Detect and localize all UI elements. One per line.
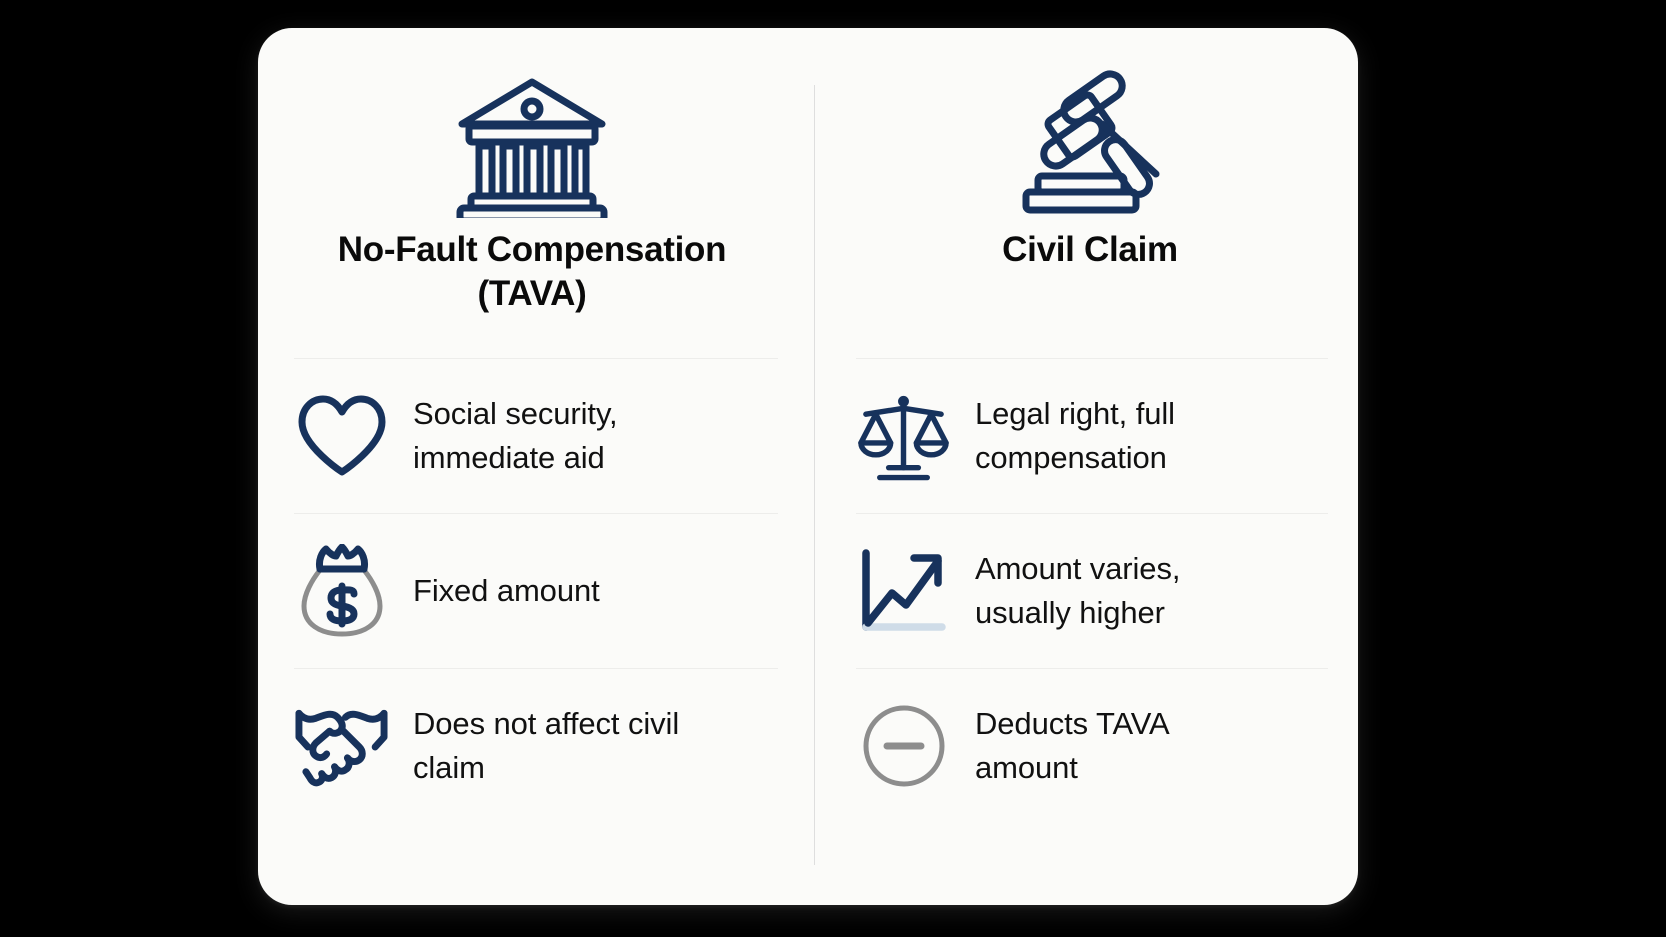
list-item-label: Social security, immediate aid xyxy=(413,392,743,481)
list-item: Legal right, full compensation xyxy=(856,358,1328,513)
feature-list-right: Legal right, full compensation Amount va… xyxy=(852,358,1328,823)
handshake-icon xyxy=(294,699,389,794)
feature-list-left: Social security, immediate aid xyxy=(286,358,778,823)
list-item-label: Legal right, full compensation xyxy=(975,392,1275,481)
list-item: Social security, immediate aid xyxy=(294,358,778,513)
bank-classical-building-icon xyxy=(452,68,612,218)
minus-circle-icon xyxy=(856,699,951,794)
column-title-line2: (TAVA) xyxy=(477,274,586,313)
list-item: Does not affect civil claim xyxy=(294,668,778,823)
list-item-label: Deducts TAVA amount xyxy=(975,702,1275,791)
scales-of-justice-icon xyxy=(856,389,951,484)
page-title-civil-claim: Civil Claim xyxy=(1002,228,1178,272)
money-bag-icon xyxy=(294,544,389,639)
heart-icon xyxy=(294,389,389,484)
column-header-right: Civil Claim xyxy=(852,28,1328,358)
list-item: Amount varies, usually higher xyxy=(856,513,1328,668)
page-title-no-fault: No-Fault Compensation (TAVA) xyxy=(338,228,726,316)
list-item: Deducts TAVA amount xyxy=(856,668,1328,823)
column-divider xyxy=(814,85,815,865)
list-item-label: Amount varies, usually higher xyxy=(975,547,1275,636)
column-header-left: No-Fault Compensation (TAVA) xyxy=(286,28,778,358)
column-title-line1: Civil Claim xyxy=(1002,230,1178,269)
gavel-icon xyxy=(990,68,1190,218)
column-civil-claim: Civil Claim xyxy=(808,28,1358,905)
list-item-label: Fixed amount xyxy=(413,569,600,613)
screenshot-root: No-Fault Compensation (TAVA) Social secu… xyxy=(0,0,1666,937)
list-item-label: Does not affect civil claim xyxy=(413,702,743,791)
column-no-fault-compensation: No-Fault Compensation (TAVA) Social secu… xyxy=(258,28,808,905)
column-title-line1: No-Fault Compensation xyxy=(338,230,726,269)
list-item: Fixed amount xyxy=(294,513,778,668)
trending-up-arrow-icon xyxy=(856,544,951,639)
comparison-card: No-Fault Compensation (TAVA) Social secu… xyxy=(258,28,1358,905)
